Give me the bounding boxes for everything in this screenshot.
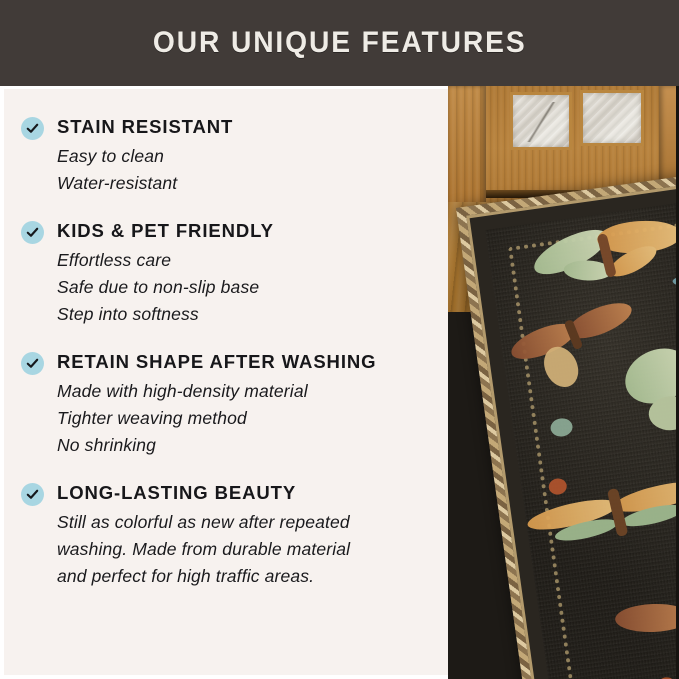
feature-line: Water-resistant [57, 170, 434, 197]
feature-item-stain-resistant: STAIN RESISTANT Easy to clean Water-resi… [19, 115, 434, 197]
page-title: OUR UNIQUE FEATURES [153, 26, 527, 60]
feature-title: LONG-LASTING BEAUTY [57, 481, 434, 504]
feature-detail-lines: Easy to clean Water-resistant [57, 143, 434, 197]
feature-line: Step into softness [57, 301, 434, 328]
check-circle-icon [21, 352, 44, 375]
feature-line: Easy to clean [57, 143, 434, 170]
feature-item-long-lasting-beauty: LONG-LASTING BEAUTY Still as colorful as… [19, 481, 434, 590]
check-circle-icon [21, 117, 44, 140]
feature-item-kids-pet-friendly: KIDS & PET FRIENDLY Effortless care Safe… [19, 219, 434, 328]
header-banner: OUR UNIQUE FEATURES [0, 0, 679, 86]
feature-line: Made with high-density material [57, 378, 434, 405]
product-feature-infographic: OUR UNIQUE FEATURES STAIN RESISTANT Easy… [0, 0, 679, 679]
product-photo [448, 86, 679, 679]
feature-detail-lines: Effortless care Safe due to non-slip bas… [57, 247, 434, 328]
frosted-glass-pane [580, 90, 644, 146]
check-circle-icon [21, 221, 44, 244]
feature-line: No shrinking [57, 432, 434, 459]
feature-item-retain-shape-after-washing: RETAIN SHAPE AFTER WASHING Made with hig… [19, 350, 434, 459]
glass-reflection [518, 102, 566, 142]
feature-line: and perfect for high traffic areas. [57, 563, 434, 590]
feature-detail-lines: Still as colorful as new after repeated … [57, 509, 434, 590]
feature-detail-lines: Made with high-density material Tighter … [57, 378, 434, 459]
feature-line: Tighter weaving method [57, 405, 434, 432]
features-panel: STAIN RESISTANT Easy to clean Water-resi… [0, 86, 448, 679]
feature-line: Effortless care [57, 247, 434, 274]
feature-title: KIDS & PET FRIENDLY [57, 219, 434, 242]
check-circle-icon [21, 483, 44, 506]
feature-line: Safe due to non-slip base [57, 274, 434, 301]
area-rug [456, 152, 679, 679]
feature-line: Still as colorful as new after repeated [57, 509, 434, 536]
body-split: STAIN RESISTANT Easy to clean Water-resi… [0, 86, 679, 679]
feature-title: RETAIN SHAPE AFTER WASHING [57, 350, 434, 373]
feature-title: STAIN RESISTANT [57, 115, 434, 138]
feature-line: washing. Made from durable material [57, 536, 434, 563]
